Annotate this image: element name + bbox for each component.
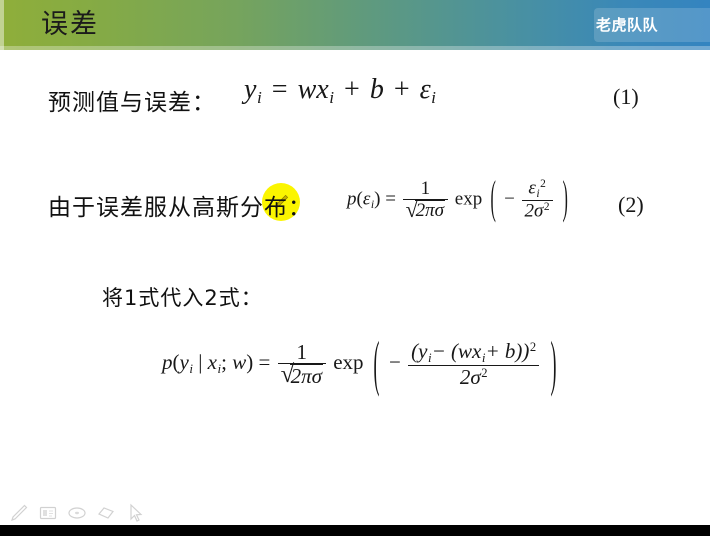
annotation-toolbar [8, 502, 146, 524]
eq3-p: p [162, 350, 173, 374]
eq3-w: w [232, 350, 246, 374]
eq3-inner-den: 2σ2 [408, 365, 539, 389]
eq3-big-open-paren: ( [373, 328, 379, 401]
slide-body: 预测值与误差： yi = wxi + b + εi (1) 由于误差服从高斯分布… [0, 50, 710, 524]
slide-header: 误差 老虎队队 [0, 0, 710, 50]
eq2-inner-den-pow: 2 [544, 201, 550, 213]
eq2-big-open-paren: ( [490, 173, 495, 227]
eq3-y: y [180, 350, 189, 374]
sqrt-icon: √ [406, 199, 418, 221]
eq1-epsilon: ε [420, 74, 431, 105]
eq1-plus-1: + [341, 74, 363, 105]
pen-icon [8, 502, 30, 524]
eq3-inner-fraction: (yi− (wxi+ b))2 2σ2 [408, 340, 539, 388]
eq3-sqrt: √ 2πσ [281, 364, 323, 388]
eq3-semicolon: ; [221, 350, 227, 374]
eq3-close-paren: ) [246, 350, 253, 374]
eq3-inner-num: (yi− (wxi+ b))2 [408, 340, 539, 365]
eq3-frac-num: 1 [278, 341, 326, 364]
eq1-x: x [316, 74, 328, 105]
eq2-sqrt-body: 2πσ [415, 200, 445, 222]
eq2-inner-den: 2σ2 [522, 200, 553, 222]
pen-tool-button[interactable] [8, 502, 30, 524]
eq2-big-close-paren: ) [563, 173, 568, 227]
pointer-tool-button[interactable] [124, 502, 146, 524]
equation-1: yi = wxi + b + εi [244, 74, 436, 108]
line1-label: 预测值与误差： [48, 83, 216, 117]
sqrt-icon: √ [281, 363, 295, 388]
eq1-x-sub: i [329, 88, 334, 107]
header-left-accent [0, 0, 4, 50]
eq3-num-pow: 2 [530, 340, 536, 354]
eq2-frac-num: 1 [403, 179, 448, 200]
eraser-icon [95, 502, 117, 524]
slide: 误差 老虎队队 预测值与误差： yi = wxi + b + εi (1) 由于… [0, 0, 710, 536]
eq1-y: y [244, 74, 256, 105]
equation-2: p(εi) = 1 √ 2πσ exp ( − εi2 2σ2 ) [347, 178, 572, 222]
page-title: 误差 [41, 6, 99, 44]
eq3-num-end: + b)) [485, 339, 529, 363]
eq2-exp: exp [455, 188, 482, 209]
eq3-sqrt-body: 2πσ [290, 364, 323, 388]
eq2-p: p [347, 188, 357, 209]
eq2-inner-eps-pow: 2 [540, 178, 546, 190]
eq3-bar: | [198, 350, 202, 374]
equation-1-tag: (1) [613, 84, 639, 110]
eq3-den-body: 2σ [460, 365, 481, 389]
screen-icon [37, 502, 59, 524]
screen-tool-button[interactable] [37, 502, 59, 524]
footer-strip [0, 525, 710, 536]
eq2-inner-num: εi2 [522, 178, 553, 200]
eq3-den-pow: 2 [481, 366, 487, 380]
cursor-arrow-icon [124, 502, 146, 524]
ellipse-tool-button[interactable] [66, 502, 88, 524]
equation-3: p(yi | xi; w) = 1 √ 2πσ exp ( − (yi− (wx… [162, 340, 561, 388]
eq1-w: w [298, 74, 317, 105]
brand-label: 老虎队队 [596, 14, 710, 35]
equation-2-tag: (2) [618, 192, 644, 218]
eq2-frac-den: √ 2πσ [403, 199, 448, 222]
eq2-minus: − [504, 188, 515, 209]
eq2-fraction: 1 √ 2πσ [403, 179, 448, 222]
eq2-inner-fraction: εi2 2σ2 [522, 178, 553, 222]
eq2-epsilon: ε [363, 188, 371, 209]
eq3-frac-den: √ 2πσ [278, 363, 326, 388]
eraser-tool-button[interactable] [95, 502, 117, 524]
eq3-open-paren: ( [173, 350, 180, 374]
eq3-x: x [208, 350, 217, 374]
eq3-num-open: (y [411, 339, 427, 363]
eq1-plus-2: + [391, 74, 413, 105]
eq2-equals: = [385, 188, 396, 209]
eq2-close-paren: ) [374, 188, 380, 209]
eq1-b: b [370, 74, 384, 105]
eq1-y-sub: i [257, 88, 262, 107]
eq2-inner-den-body: 2σ [525, 201, 544, 222]
eq1-equals: = [269, 74, 291, 105]
eq3-minus: − [389, 350, 401, 374]
eq3-exp: exp [333, 350, 363, 374]
eq3-equals: = [258, 350, 270, 374]
line2-label: 由于误差服从高斯分布： [48, 188, 312, 222]
line3-label: 将1式代入2式： [102, 282, 263, 312]
eq3-y-sub: i [189, 361, 193, 376]
eq2-inner-eps: ε [528, 177, 536, 198]
ellipse-icon [66, 502, 88, 524]
eq2-sqrt: √ 2πσ [406, 200, 445, 222]
eq3-num-mid: − (wx [432, 339, 482, 363]
eq3-big-close-paren: ) [551, 328, 557, 401]
eq3-fraction: 1 √ 2πσ [278, 341, 326, 388]
eq1-epsilon-sub: i [431, 88, 436, 107]
